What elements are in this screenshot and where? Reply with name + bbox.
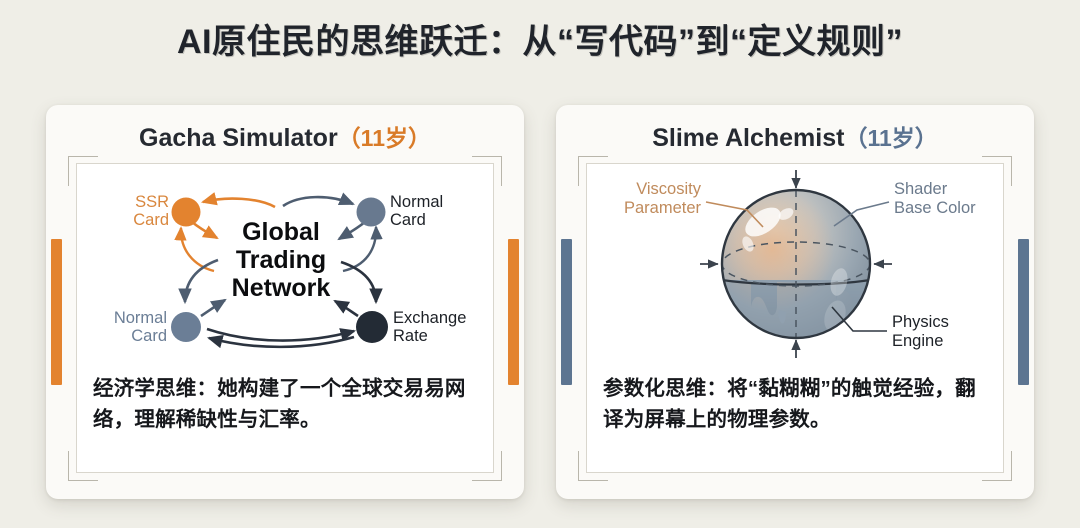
card-caption-gacha: 经济学思维：她构建了一个全球交易易网络，理解稀缺性与汇率。	[77, 364, 495, 473]
panel-slime: Viscosity Parameter Shader Base Color Ph…	[586, 163, 1004, 473]
card-gacha-simulator[interactable]: Gacha Simulator（11岁）	[46, 105, 524, 499]
svg-text:Physics: Physics	[892, 313, 949, 331]
svg-text:Card: Card	[390, 211, 426, 229]
svg-text:Trading: Trading	[236, 246, 326, 274]
svg-text:Exchange: Exchange	[393, 309, 466, 327]
accent-bar-left-slime	[561, 239, 572, 385]
card-title-text: Slime Alchemist	[652, 124, 844, 152]
panel-gacha: SSR Card Normal Card Normal Card Exchang…	[76, 163, 494, 473]
svg-text:Rate: Rate	[393, 327, 428, 345]
svg-text:Base Color: Base Color	[894, 199, 976, 217]
svg-text:Card: Card	[133, 211, 169, 229]
page-title: AI原住民的思维跃迁：从“写代码”到“定义规则”	[0, 14, 1080, 63]
svg-text:Parameter: Parameter	[624, 199, 702, 217]
cards-row: Gacha Simulator（11岁）	[46, 105, 1034, 499]
card-age-badge: （11岁）	[844, 125, 937, 151]
svg-text:Viscosity: Viscosity	[636, 180, 702, 198]
svg-text:Engine: Engine	[892, 332, 943, 350]
svg-text:Global: Global	[242, 218, 320, 246]
accent-bar-left-gacha	[51, 239, 62, 385]
card-title-text: Gacha Simulator	[139, 124, 338, 152]
card-caption-slime: 参数化思维：将“黏糊糊”的触觉经验，翻译为屏幕上的物理参数。	[587, 364, 1005, 473]
diagram-slime-sphere: Viscosity Parameter Shader Base Color Ph…	[587, 164, 1005, 364]
svg-text:Shader: Shader	[894, 180, 948, 198]
svg-text:Card: Card	[131, 327, 167, 345]
svg-text:SSR: SSR	[135, 193, 169, 211]
card-slime-alchemist[interactable]: Slime Alchemist（11岁）	[556, 105, 1034, 499]
accent-bar-right-slime	[1018, 239, 1029, 385]
card-age-badge: （11岁）	[338, 125, 431, 151]
card-title-slime: Slime Alchemist（11岁）	[556, 119, 1034, 153]
accent-bar-right-gacha	[508, 239, 519, 385]
svg-text:Normal: Normal	[114, 309, 167, 327]
svg-text:Normal: Normal	[390, 193, 443, 211]
diagram-trading-network: SSR Card Normal Card Normal Card Exchang…	[77, 164, 495, 364]
svg-text:Network: Network	[232, 274, 331, 302]
card-title-gacha: Gacha Simulator（11岁）	[46, 119, 524, 153]
